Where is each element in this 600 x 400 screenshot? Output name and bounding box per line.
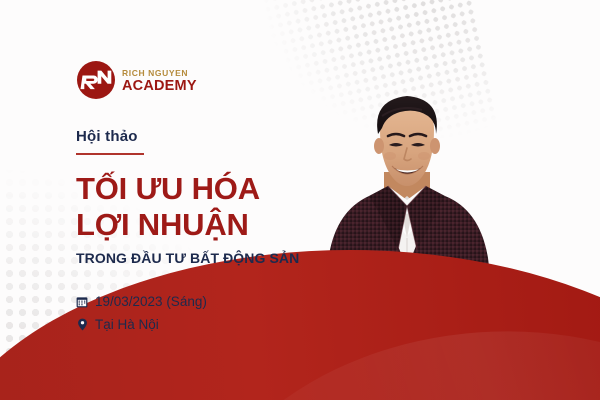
brand-logo[interactable]: RICH NGUYEN ACADEMY	[76, 60, 197, 100]
location-pin-icon	[76, 318, 88, 332]
headline-block: Hội thảo TỐI ƯU HÓA LỢI NHUẬN TRONG ĐẦU …	[76, 128, 376, 266]
event-details: 19/03/2023 (Sáng) Tại Hà Nội	[76, 294, 207, 340]
calendar-icon	[76, 295, 88, 309]
brand-wordmark: RICH NGUYEN ACADEMY	[122, 67, 197, 94]
event-date-row: 19/03/2023 (Sáng)	[76, 294, 207, 309]
headline-line-1: TỐI ƯU HÓA	[76, 171, 376, 207]
brand-line-2: ACADEMY	[122, 79, 197, 94]
eyebrow-underline	[76, 153, 144, 155]
event-location-text: Tại Hà Nội	[95, 317, 159, 332]
seminar-banner: RICH NGUYEN ACADEMY Hội thảo TỐI ƯU HÓA …	[0, 0, 600, 400]
subheadline: TRONG ĐẦU TƯ BẤT ĐỘNG SẢN	[76, 250, 376, 266]
event-location-row: Tại Hà Nội	[76, 317, 207, 332]
headline-line-2: LỢI NHUẬN	[76, 207, 376, 243]
rn-monogram-icon	[76, 60, 116, 100]
page-title: TỐI ƯU HÓA LỢI NHUẬN	[76, 171, 376, 243]
eyebrow-label: Hội thảo	[76, 128, 376, 145]
event-date-text: 19/03/2023 (Sáng)	[95, 294, 207, 309]
brand-line-1: RICH NGUYEN	[122, 69, 197, 78]
